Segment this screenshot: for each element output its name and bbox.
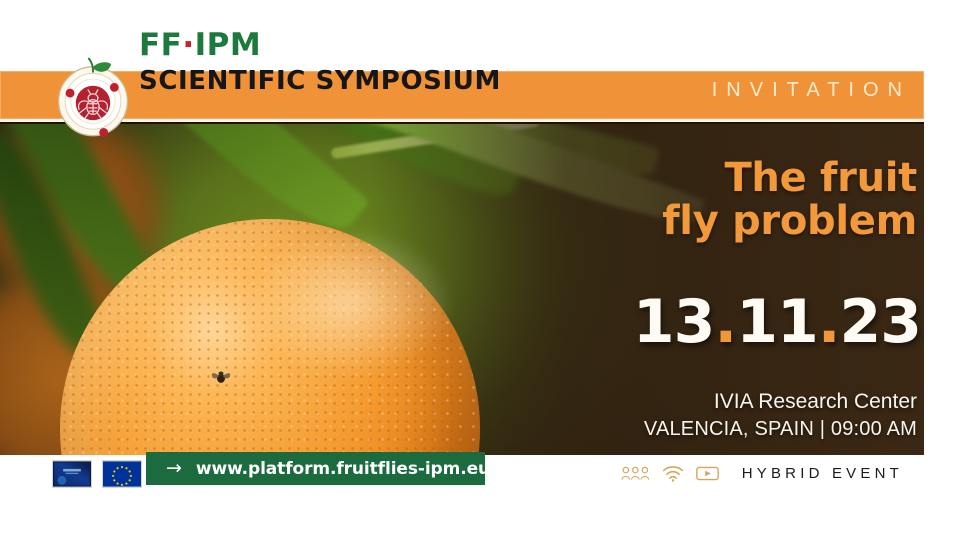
orange-highlight (245, 227, 455, 378)
arrow-right-icon: → (166, 459, 182, 478)
hybrid-event-label: HYBRID EVENT (742, 465, 903, 482)
date-separator-2: . (818, 287, 840, 357)
fruit-fly-icon (210, 369, 232, 385)
brand-ipm-text: IPM (195, 27, 262, 63)
ffipm-fruit-fly-logo-icon (52, 57, 134, 139)
brand-block: FF·IPM SCIENTIFIC SYMPOSIUM (139, 30, 501, 94)
hybrid-event-icons (621, 465, 720, 482)
date-day: 13 (633, 287, 715, 357)
event-date: 13.11.23 (633, 292, 921, 352)
venue-name: IVIA Research Center (644, 388, 917, 416)
brand-dot-separator: · (182, 27, 194, 63)
hero-headline: The fruit fly problem (662, 157, 917, 243)
funding-flags (52, 460, 142, 488)
headline-line-2: fly problem (662, 200, 917, 243)
horizon-2020-emblem-icon (52, 460, 92, 488)
headline-line-1: The fruit (662, 157, 917, 200)
symposium-title: SCIENTIFIC SYMPOSIUM (139, 68, 501, 94)
eu-flag-icon (102, 460, 142, 488)
website-url-text: www.platform.fruitflies-ipm.eu (196, 459, 490, 479)
brand-wordmark: FF·IPM (139, 30, 501, 61)
date-year: 23 (840, 287, 922, 357)
ffipm-logo-badge (52, 57, 134, 139)
event-venue: IVIA Research Center VALENCIA, SPAIN | 0… (644, 388, 917, 442)
venue-city-time: VALENCIA, SPAIN | 09:00 AM (644, 416, 917, 442)
video-play-icon (695, 465, 720, 482)
hybrid-event-block: HYBRID EVENT (621, 465, 903, 482)
date-month: 11 (736, 287, 818, 357)
symposium-invitation-poster: FF·IPM SCIENTIFIC SYMPOSIUM INVITATION T… (0, 0, 957, 538)
invitation-label: INVITATION (712, 79, 911, 102)
date-separator-1: . (714, 287, 736, 357)
people-group-icon (621, 465, 651, 482)
wifi-icon (662, 465, 684, 482)
website-url-button[interactable]: → www.platform.fruitflies-ipm.eu (146, 452, 485, 485)
brand-ff-text: FF (139, 27, 182, 63)
